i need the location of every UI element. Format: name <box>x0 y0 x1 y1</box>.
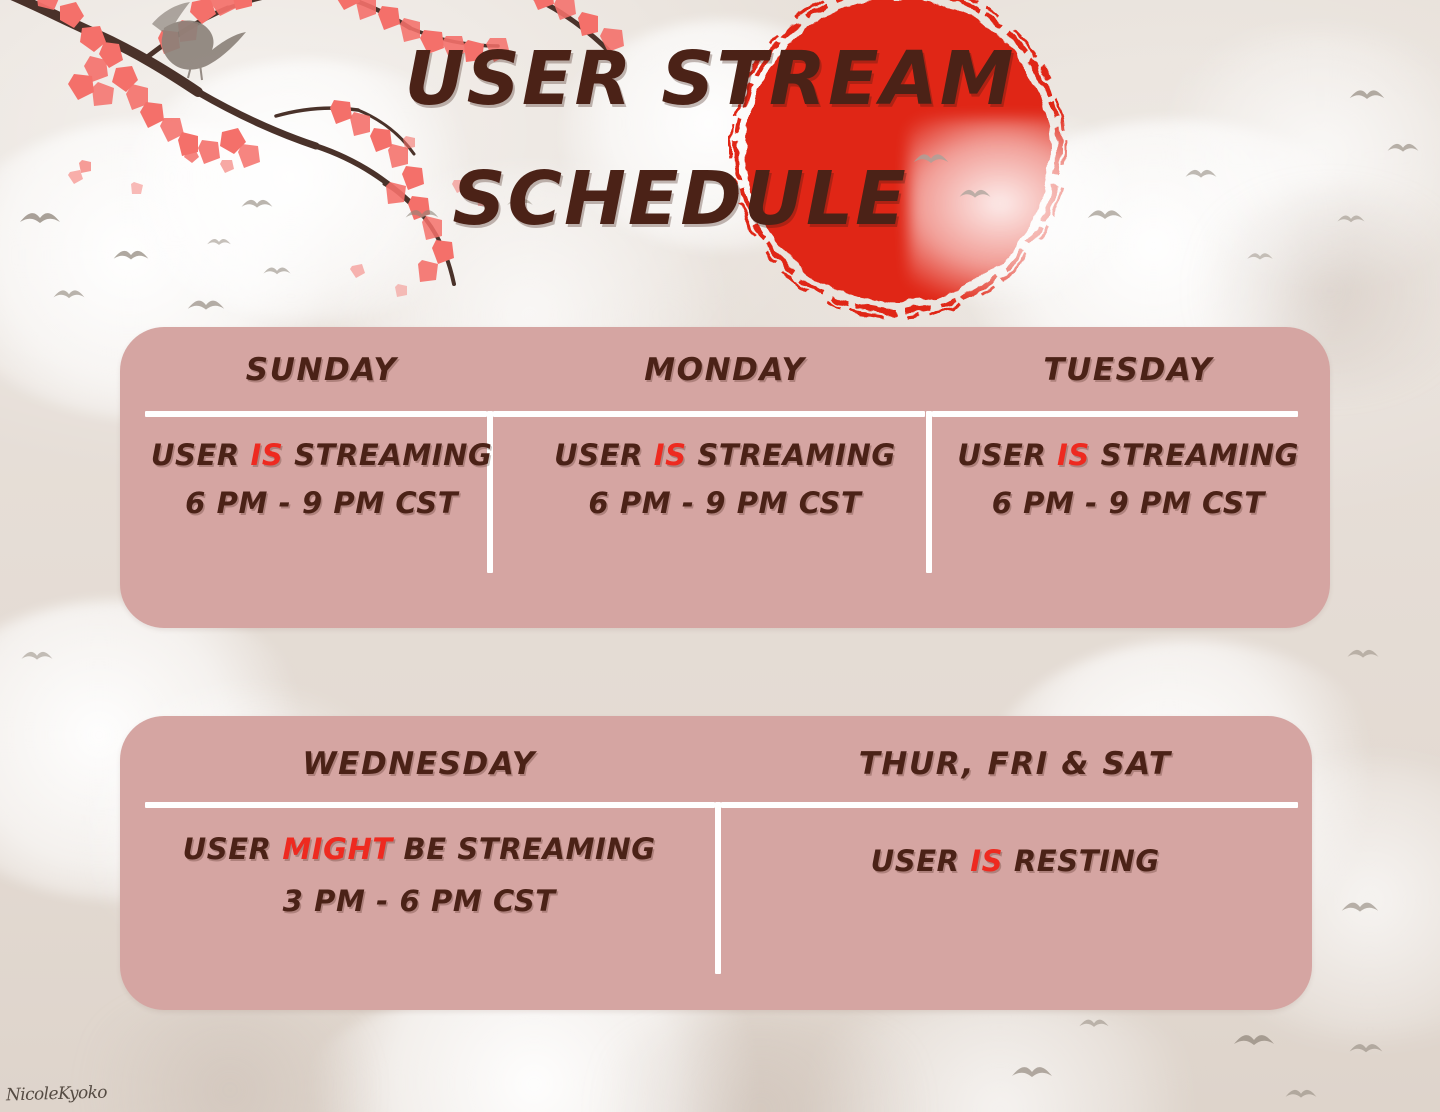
status-text-sunday: USER IS STREAMING <box>151 438 493 472</box>
title-line-2: SCHEDULE <box>310 162 1050 236</box>
time-text-tuesday: 6 PM - 9 PM CST <box>992 486 1265 520</box>
time-text-wednesday: 3 PM - 6 PM CST <box>283 884 556 918</box>
poster-title: USER STREAM SCHEDULE <box>370 42 1050 236</box>
schedule-card-top: SUNDAY USER IS STREAMING 6 PM - 9 PM CST… <box>120 327 1330 628</box>
status-text-weekend: USER IS RESTING <box>871 844 1160 878</box>
stream-schedule-poster: USER STREAM SCHEDULE SUNDAY USER IS STRE… <box>0 0 1440 1112</box>
artist-signature: NicoleKyoko <box>6 1083 107 1106</box>
status-text-wednesday: USER MIGHT BE STREAMING <box>183 832 656 866</box>
schedule-column-sunday: SUNDAY USER IS STREAMING 6 PM - 9 PM CST <box>120 327 523 628</box>
status-text-tuesday: USER IS STREAMING <box>957 438 1299 472</box>
schedule-column-monday: MONDAY USER IS STREAMING 6 PM - 9 PM CST <box>523 327 926 628</box>
status-text-monday: USER IS STREAMING <box>554 438 896 472</box>
day-label-wednesday: WEDNESDAY <box>302 746 536 782</box>
schedule-column-tuesday: TUESDAY USER IS STREAMING 6 PM - 9 PM CS… <box>927 327 1330 628</box>
time-text-monday: 6 PM - 9 PM CST <box>588 486 861 520</box>
day-label-tuesday: TUESDAY <box>1043 352 1213 388</box>
schedule-column-weekend: THUR, FRI & SAT USER IS RESTING <box>718 716 1312 1010</box>
schedule-card-bottom: WEDNESDAY USER MIGHT BE STREAMING 3 PM -… <box>120 716 1312 1010</box>
time-text-sunday: 6 PM - 9 PM CST <box>185 486 458 520</box>
schedule-column-wednesday: WEDNESDAY USER MIGHT BE STREAMING 3 PM -… <box>120 716 718 1010</box>
day-label-monday: MONDAY <box>644 352 805 388</box>
day-label-sunday: SUNDAY <box>246 352 398 388</box>
day-label-weekend: THUR, FRI & SAT <box>859 746 1172 782</box>
title-line-1: USER STREAM <box>370 42 1050 116</box>
